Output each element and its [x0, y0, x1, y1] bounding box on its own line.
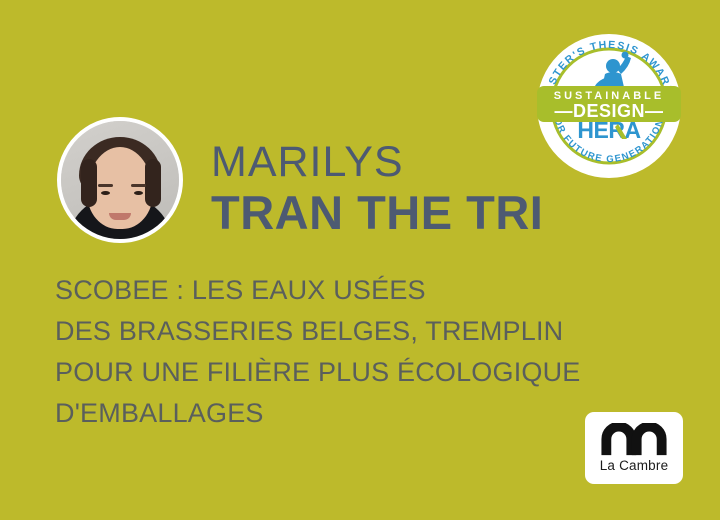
portrait-brow-left	[98, 184, 113, 187]
thesis-title-line-4: D'EMBALLAGES	[55, 393, 655, 434]
portrait-hair-right	[145, 159, 161, 207]
avatar	[57, 117, 183, 243]
thesis-title-line-3: POUR UNE FILIÈRE PLUS ÉCOLOGIQUE	[55, 352, 655, 393]
laureate-name: MARILYS TRAN THE TRI	[211, 138, 543, 240]
thesis-title-line-1: SCOBEE : LES EAUX USÉES	[55, 270, 655, 311]
portrait-mouth	[109, 213, 131, 220]
lacambre-m-mark-icon	[601, 423, 667, 457]
thesis-title-line-2: DES BRASSERIES BELGES, TREMPLIN	[55, 311, 655, 352]
portrait-brow-right	[131, 184, 146, 187]
thesis-title: SCOBEE : LES EAUX USÉES DES BRASSERIES B…	[55, 270, 655, 434]
portrait-hair-left	[81, 159, 97, 207]
award-card: MARILYS TRAN THE TRI SCOBEE : LES EAUX U…	[0, 0, 720, 520]
lacambre-logo: La Cambre	[585, 412, 683, 484]
hera-badge-icon: MASTER'S THESIS AWARDS FOR FUTURE GENERA…	[527, 26, 691, 178]
last-name: TRAN THE TRI	[211, 186, 543, 240]
portrait-eye-left	[101, 191, 110, 195]
badge-band-line-2: —DESIGN—	[554, 101, 663, 121]
first-name: MARILYS	[211, 138, 543, 186]
portrait-eye-right	[134, 191, 143, 195]
lacambre-wordmark: La Cambre	[600, 458, 669, 473]
hera-award-badge: MASTER'S THESIS AWARDS FOR FUTURE GENERA…	[527, 26, 691, 178]
